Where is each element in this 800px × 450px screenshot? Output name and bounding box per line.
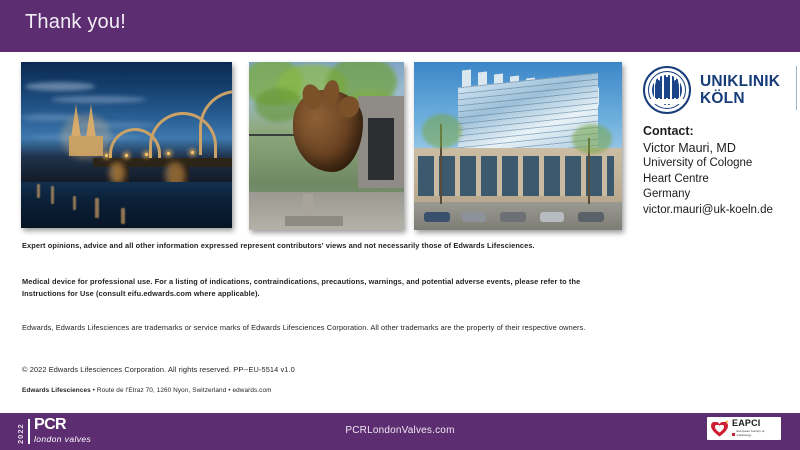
header-bar: Thank you! [0, 0, 800, 52]
disclaimer-trademarks: Edwards, Edwards Lifesciences are tradem… [22, 322, 602, 334]
heart-icon [711, 421, 728, 437]
company-address-line: Edwards Lifesciences • Route de l'Etraz … [22, 386, 602, 396]
eapci-subtitle: European Society of Cardiology [737, 430, 778, 438]
photo-cologne-cathedral-hohenzollern-bridge [21, 62, 232, 228]
address-rest: • Route de l'Etraz 70, 1260 Nyon, Switze… [91, 387, 272, 394]
slide: Thank you! [0, 0, 800, 450]
address-text: Edwards Lifesciences • Route de l'Etraz … [22, 386, 602, 396]
disclaimer-medical-device: Medical device for professional use. For… [22, 276, 602, 300]
brand-line-2: KÖLN [700, 90, 780, 107]
contact-name: Victor Mauri, MD [643, 140, 798, 157]
copyright-text: © 2022 Edwards Lifesciences Corporation.… [22, 364, 602, 376]
brand-line-1: UNIKLINIK [700, 73, 780, 90]
eapci-wordmark: EAPCI [732, 419, 777, 428]
esc-dot-icon [732, 433, 735, 436]
eapci-subtitle-row: European Society of Cardiology [732, 430, 777, 438]
contact-block: Contact: Victor Mauri, MD University of … [643, 123, 798, 219]
copyright-line: © 2022 Edwards Lifesciences Corporation.… [22, 364, 602, 376]
contact-affiliation: University of Cologne [643, 156, 798, 172]
photo-bronze-heart-sculpture [249, 62, 404, 230]
contact-label: Contact: [643, 123, 798, 140]
photo-uniklinik-koeln-building [414, 62, 622, 230]
contact-email[interactable]: victor.mauri@uk-koeln.de [643, 203, 798, 219]
contact-department: Heart Centre [643, 172, 798, 188]
company-name: Edwards Lifesciences [22, 387, 91, 394]
disclaimer-text: Edwards, Edwards Lifesciences are tradem… [22, 322, 602, 334]
contact-country: Germany [643, 187, 798, 203]
brand-name: UNIKLINIK KÖLN [700, 73, 780, 108]
eapci-logo: EAPCI European Society of Cardiology [707, 417, 781, 440]
disclaimer-text: Expert opinions, advice and all other in… [22, 240, 602, 252]
page-title: Thank you! [25, 11, 126, 34]
footer-url[interactable]: PCRLondonValves.com [0, 425, 800, 436]
disclaimer-expert-opinions: Expert opinions, advice and all other in… [22, 240, 602, 252]
brand-divider [796, 66, 797, 110]
disclaimer-text: Medical device for professional use. For… [22, 276, 602, 300]
brand-block: UNIKLINIK KÖLN [643, 66, 793, 114]
uniklinik-koeln-seal-icon [643, 66, 691, 114]
